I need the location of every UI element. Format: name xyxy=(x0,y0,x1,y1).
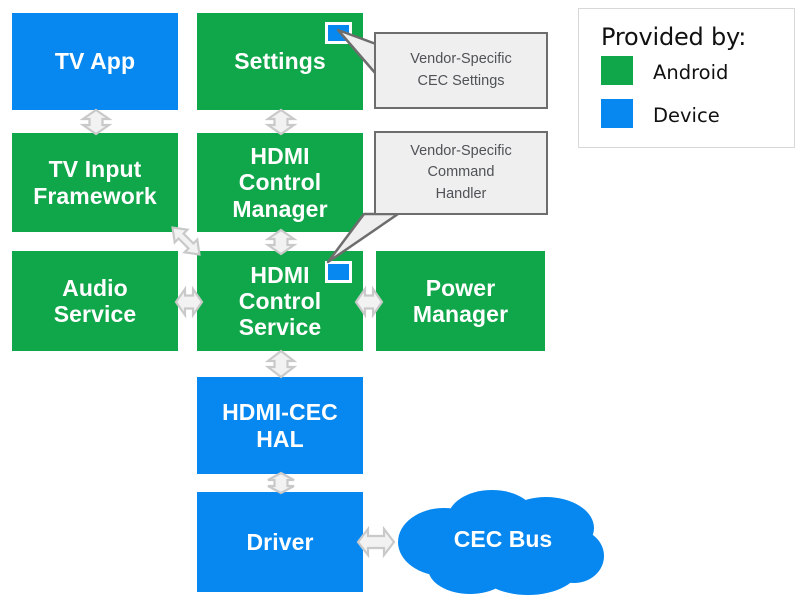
node-driver[interactable]: Driver xyxy=(197,492,363,592)
callout-vendor-cec-settings-text: Vendor-Specific CEC Settings xyxy=(400,49,522,91)
node-driver-label: Driver xyxy=(240,529,319,555)
arrow-settings-hdmi-control-manager xyxy=(261,109,301,135)
node-tv-app-label: TV App xyxy=(49,48,141,74)
arrow-tv-app-tv-input-framework xyxy=(76,109,116,135)
callout-vendor-command-handler[interactable]: Vendor-Specific Command Handler xyxy=(374,131,548,215)
arrow-hdmi-cec-hal-driver xyxy=(261,472,301,494)
arrow-audio-service-hdmi-control-service xyxy=(175,282,203,322)
arrow-tv-input-framework-hdmi-control-service xyxy=(160,217,212,265)
callout-vendor-cec-settings[interactable]: Vendor-Specific CEC Settings xyxy=(374,32,548,109)
node-audio-service-label: Audio Service xyxy=(48,275,143,327)
node-tv-app[interactable]: TV App xyxy=(12,13,178,110)
diagram-canvas: TV App Settings TV Input Framework HDMI … xyxy=(0,0,800,603)
callout-vendor-command-handler-text: Vendor-Specific Command Handler xyxy=(400,141,522,204)
legend-swatch-device xyxy=(601,99,633,128)
legend-title: Provided by: xyxy=(601,23,746,51)
node-hdmi-cec-hal[interactable]: HDMI-CEC HAL xyxy=(197,377,363,474)
legend-label-device: Device xyxy=(653,104,720,127)
node-cec-bus[interactable]: CEC Bus xyxy=(388,484,604,596)
node-cec-bus-label: CEC Bus xyxy=(388,484,604,596)
node-power-manager-label: Power Manager xyxy=(407,275,514,327)
arrow-hdmi-control-manager-hdmi-control-service xyxy=(261,229,301,255)
arrow-hdmi-control-service-hdmi-cec-hal xyxy=(261,350,301,378)
node-audio-service[interactable]: Audio Service xyxy=(12,251,178,351)
node-tv-input-framework[interactable]: TV Input Framework xyxy=(12,133,178,232)
legend-swatch-android xyxy=(601,56,633,85)
legend: Provided by: Android Device xyxy=(578,8,795,148)
node-tv-input-framework-label: TV Input Framework xyxy=(27,156,163,208)
legend-label-android: Android xyxy=(653,61,728,84)
arrow-hdmi-control-service-power-manager xyxy=(355,282,383,322)
node-hdmi-control-service-label: HDMI Control Service xyxy=(233,262,328,341)
node-settings-label: Settings xyxy=(228,48,332,74)
node-hdmi-control-manager-label: HDMI Control Manager xyxy=(226,143,333,222)
node-hdmi-cec-hal-label: HDMI-CEC HAL xyxy=(216,399,344,451)
arrow-driver-cec-bus xyxy=(357,523,395,561)
